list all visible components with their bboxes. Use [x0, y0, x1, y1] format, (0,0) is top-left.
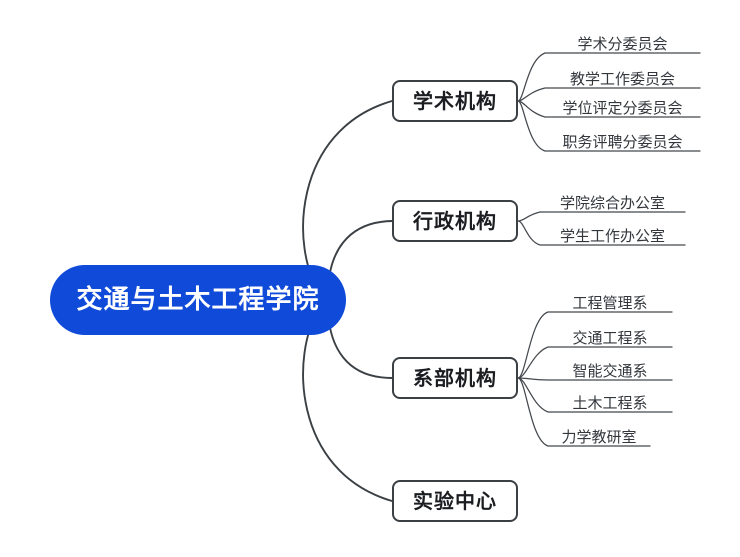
branch-node-academic[interactable]: 学术机构 [392, 80, 518, 122]
leaf-node-departments-3[interactable]: 智能交通系 [548, 354, 672, 380]
leaf-node-academic-2[interactable]: 教学工作委员会 [545, 62, 700, 88]
branch-node-administrative[interactable]: 行政机构 [392, 200, 518, 242]
connector-root-to-lab-center [303, 308, 392, 501]
leaf-node-departments-4[interactable]: 土木工程系 [548, 386, 672, 412]
root-node-label: 交通与土木工程学院 [76, 287, 319, 313]
branch-node-administrative-label: 行政机构 [413, 211, 497, 231]
leaf-node-departments-3-label: 智能交通系 [572, 362, 647, 380]
leaf-node-administrative-2[interactable]: 学生工作办公室 [540, 219, 685, 245]
mind-map-canvas: 交通与土木工程学院 学术机构 行政机构 系部机构 实验中心 学术分委员会 教学工… [0, 0, 740, 557]
leaf-node-academic-4-label: 职务评聘分委员会 [562, 133, 682, 151]
leaf-node-administrative-1-label: 学院综合办公室 [560, 194, 665, 212]
leaf-node-academic-3-label: 学位评定分委员会 [562, 99, 682, 117]
leaf-node-academic-1-label: 学术分委员会 [577, 35, 667, 53]
leaf-node-academic-1[interactable]: 学术分委员会 [545, 27, 700, 53]
branch-node-departments-label: 系部机构 [413, 368, 497, 388]
branch-node-departments[interactable]: 系部机构 [392, 357, 518, 399]
leaf-node-administrative-1[interactable]: 学院综合办公室 [540, 186, 685, 212]
leaf-node-academic-2-label: 教学工作委员会 [570, 70, 675, 88]
leaf-node-departments-5[interactable]: 力学教研室 [548, 420, 650, 446]
leaf-node-departments-2-label: 交通工程系 [572, 329, 647, 347]
branch-node-lab-center[interactable]: 实验中心 [392, 480, 518, 522]
leaf-node-administrative-2-label: 学生工作办公室 [560, 227, 665, 245]
root-node[interactable]: 交通与土木工程学院 [50, 265, 346, 335]
leaf-node-departments-2[interactable]: 交通工程系 [548, 321, 672, 347]
leaf-node-departments-4-label: 土木工程系 [572, 394, 647, 412]
leaf-node-departments-1[interactable]: 工程管理系 [548, 286, 672, 312]
leaf-node-departments-5-label: 力学教研室 [561, 428, 636, 446]
leaf-node-departments-1-label: 工程管理系 [572, 294, 647, 312]
branch-node-academic-label: 学术机构 [413, 91, 497, 111]
connector-root-to-academic [303, 101, 392, 292]
leaf-node-academic-3[interactable]: 学位评定分委员会 [545, 91, 700, 117]
leaf-node-academic-4[interactable]: 职务评聘分委员会 [545, 125, 700, 151]
branch-node-lab-center-label: 实验中心 [413, 491, 497, 511]
